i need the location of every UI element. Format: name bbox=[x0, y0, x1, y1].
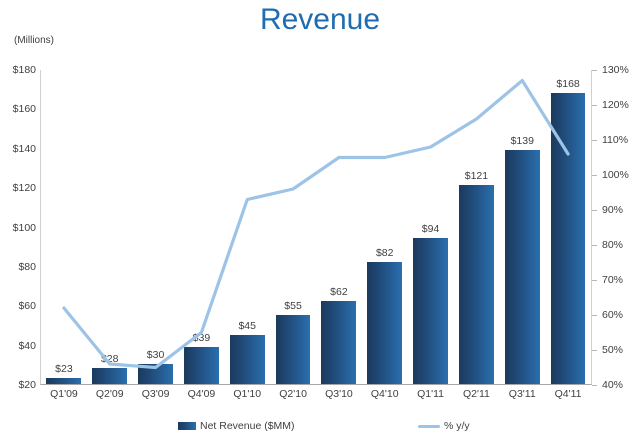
revenue-bar[interactable] bbox=[413, 238, 448, 384]
bar-value-label: $62 bbox=[316, 286, 362, 298]
category-axis-label: Q3'09 bbox=[133, 388, 179, 400]
bar-slot: $94 bbox=[408, 70, 454, 384]
bar-value-label: $23 bbox=[41, 363, 87, 375]
bar-slot: $28 bbox=[87, 70, 133, 384]
bar-value-label: $30 bbox=[133, 349, 179, 361]
bar-slot: $82 bbox=[362, 70, 408, 384]
right-percent-axis: 130%120%110%100%90%80%70%60%50%40% bbox=[592, 70, 640, 385]
category-axis-label: Q4'11 bbox=[545, 388, 591, 400]
left-axis-tick: $120 bbox=[2, 182, 40, 194]
right-axis-tick: 130% bbox=[592, 64, 638, 76]
category-axis-label: Q2'09 bbox=[87, 388, 133, 400]
left-axis-tick: $100 bbox=[2, 222, 40, 234]
chart-title: Revenue bbox=[0, 2, 640, 38]
right-axis-tick: 60% bbox=[592, 309, 638, 321]
left-axis-tick: $160 bbox=[2, 103, 40, 115]
bar-slot: $23 bbox=[41, 70, 87, 384]
category-axis-label: Q4'09 bbox=[179, 388, 225, 400]
right-axis-tick: 120% bbox=[592, 99, 638, 111]
category-axis-label: Q1'10 bbox=[224, 388, 270, 400]
left-value-axis: $180$160$140$120$100$80$60$40$20 bbox=[0, 70, 40, 385]
revenue-bar[interactable] bbox=[505, 150, 540, 384]
bar-value-label: $39 bbox=[179, 332, 225, 344]
bar-value-label: $82 bbox=[362, 247, 408, 259]
right-axis-tick: 110% bbox=[592, 134, 638, 146]
bar-value-label: $45 bbox=[224, 320, 270, 332]
left-axis-tick: $20 bbox=[2, 379, 40, 391]
legend-line-swatch-icon bbox=[418, 425, 440, 428]
right-axis-tick: 100% bbox=[592, 169, 638, 181]
revenue-bar[interactable] bbox=[92, 368, 127, 384]
legend-entry[interactable]: % y/y bbox=[418, 418, 470, 434]
bar-slot: $55 bbox=[270, 70, 316, 384]
revenue-bar[interactable] bbox=[46, 378, 81, 384]
bar-value-label: $168 bbox=[545, 78, 591, 90]
category-axis-label: Q3'11 bbox=[499, 388, 545, 400]
bar-value-label: $94 bbox=[408, 223, 454, 235]
legend-bar-swatch-icon bbox=[178, 422, 196, 430]
revenue-bar[interactable] bbox=[230, 335, 265, 384]
bar-slot: $39 bbox=[179, 70, 225, 384]
revenue-bar[interactable] bbox=[184, 347, 219, 384]
revenue-bar[interactable] bbox=[459, 185, 494, 384]
category-axis-label: Q4'10 bbox=[362, 388, 408, 400]
category-axis: Q1'09Q2'09Q3'09Q4'09Q1'10Q2'10Q3'10Q4'10… bbox=[41, 388, 591, 406]
revenue-bar[interactable] bbox=[367, 262, 402, 384]
bars-layer: $23$28$30$39$45$55$62$82$94$121$139$168 bbox=[41, 70, 591, 384]
bar-slot: $62 bbox=[316, 70, 362, 384]
revenue-bar[interactable] bbox=[138, 364, 173, 384]
bar-slot: $45 bbox=[224, 70, 270, 384]
bar-value-label: $121 bbox=[454, 170, 500, 182]
bar-slot: $139 bbox=[499, 70, 545, 384]
category-axis-label: Q1'11 bbox=[408, 388, 454, 400]
bar-slot: $30 bbox=[133, 70, 179, 384]
right-axis-tick: 70% bbox=[592, 274, 638, 286]
left-axis-tick: $60 bbox=[2, 300, 40, 312]
revenue-chart: Revenue (Millions) $180$160$140$120$100$… bbox=[0, 0, 640, 444]
bar-value-label: $139 bbox=[499, 135, 545, 147]
bar-value-label: $28 bbox=[87, 353, 133, 365]
left-axis-tick: $140 bbox=[2, 143, 40, 155]
bar-value-label: $55 bbox=[270, 300, 316, 312]
left-axis-tick: $40 bbox=[2, 340, 40, 352]
right-axis-tick: 40% bbox=[592, 379, 638, 391]
right-axis-tick: 90% bbox=[592, 204, 638, 216]
revenue-bar[interactable] bbox=[551, 93, 586, 384]
bar-slot: $121 bbox=[454, 70, 500, 384]
legend-label: % y/y bbox=[444, 420, 470, 432]
left-axis-tick: $180 bbox=[2, 64, 40, 76]
legend-entry[interactable]: Net Revenue ($MM) bbox=[178, 418, 295, 434]
revenue-bar[interactable] bbox=[321, 301, 356, 384]
right-axis-tick: 50% bbox=[592, 344, 638, 356]
category-axis-label: Q1'09 bbox=[41, 388, 87, 400]
category-axis-label: Q2'10 bbox=[270, 388, 316, 400]
chart-legend: Net Revenue ($MM)% y/y bbox=[0, 418, 640, 438]
right-axis-tick: 80% bbox=[592, 239, 638, 251]
category-axis-label: Q3'10 bbox=[316, 388, 362, 400]
left-axis-tick: $80 bbox=[2, 261, 40, 273]
revenue-bar[interactable] bbox=[276, 315, 311, 384]
legend-label: Net Revenue ($MM) bbox=[200, 420, 295, 432]
category-axis-label: Q2'11 bbox=[454, 388, 500, 400]
bar-slot: $168 bbox=[545, 70, 591, 384]
units-caption: (Millions) bbox=[14, 35, 54, 46]
